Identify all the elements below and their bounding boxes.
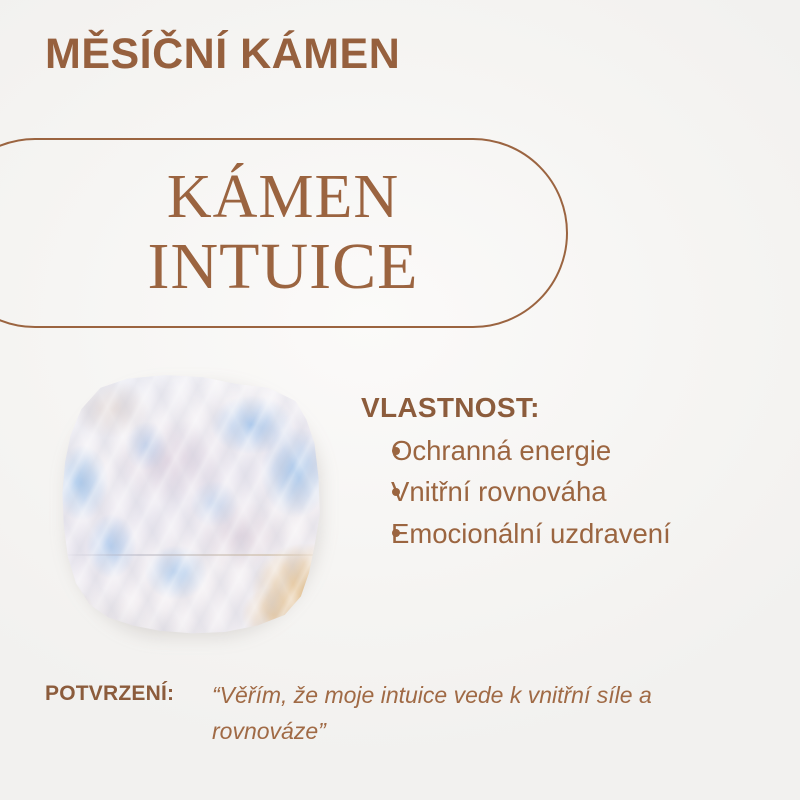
page-title: MĚSÍČNÍ KÁMEN bbox=[45, 30, 400, 79]
list-item-label: Emocionální uzdravení bbox=[391, 518, 671, 549]
affirmation-label: POTVRZENÍ: bbox=[45, 678, 174, 711]
list-item: Vnitřní rovnováha bbox=[391, 471, 791, 512]
list-item: Emocionální uzdravení bbox=[391, 513, 791, 554]
properties-section: VLASTNOST: Ochranná energie Vnitřní rovn… bbox=[361, 392, 791, 554]
bullet-icon bbox=[392, 529, 400, 537]
moonstone-facet-line bbox=[57, 554, 328, 556]
properties-heading: VLASTNOST: bbox=[361, 392, 791, 424]
badge-line-1: KÁMEN bbox=[167, 167, 399, 228]
list-item-label: Vnitřní rovnováha bbox=[391, 476, 607, 507]
affirmation-section: POTVRZENÍ: “Věřím, že moje intuice vede … bbox=[45, 678, 745, 749]
bullet-icon bbox=[392, 447, 400, 455]
moonstone-infographic-card: MĚSÍČNÍ KÁMEN KÁMEN INTUICE VLASTNOST: O… bbox=[0, 0, 800, 800]
properties-list: Ochranná energie Vnitřní rovnováha Emoci… bbox=[361, 430, 791, 554]
list-item-label: Ochranná energie bbox=[391, 435, 611, 466]
moonstone-body bbox=[57, 372, 328, 636]
badge-text-group: KÁMEN INTUICE bbox=[0, 138, 568, 328]
moonstone-edge-shading bbox=[57, 372, 328, 636]
bullet-icon bbox=[392, 488, 400, 496]
list-item: Ochranná energie bbox=[391, 430, 791, 471]
badge-line-2: INTUICE bbox=[148, 234, 419, 299]
moonstone-image bbox=[52, 368, 330, 640]
